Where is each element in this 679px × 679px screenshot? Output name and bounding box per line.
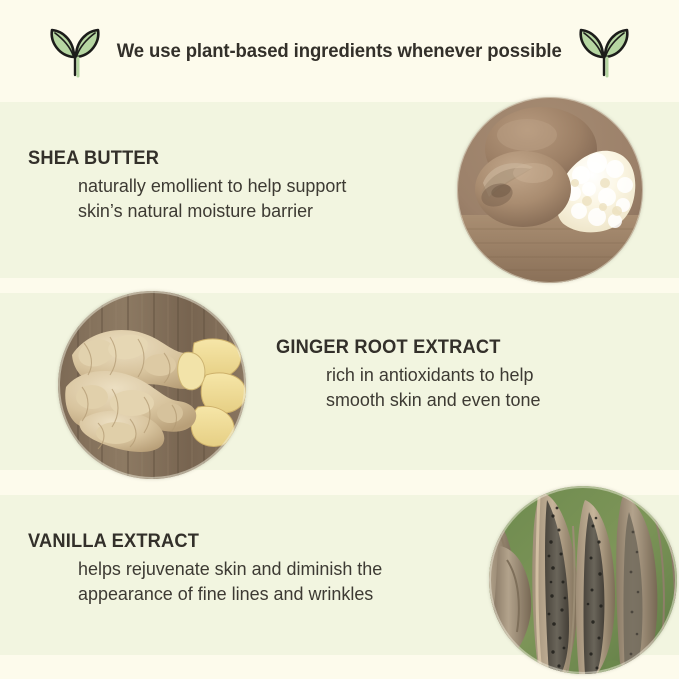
- header: We use plant-based ingredients whenever …: [0, 0, 679, 102]
- ingredient-name: GINGER ROOT EXTRACT: [276, 337, 536, 359]
- ingredient-text-shea-butter: SHEA BUTTER naturally emollient to help …: [28, 148, 355, 223]
- leaf-sprout-icon: [576, 20, 632, 78]
- ingredient-name: VANILLA EXTRACT: [28, 531, 377, 553]
- ingredient-description: helps rejuvenate skin and diminish the a…: [78, 557, 382, 606]
- ingredient-text-ginger-root-extract: GINGER ROOT EXTRACT rich in antioxidants…: [276, 337, 547, 412]
- page-title: We use plant-based ingredients whenever …: [115, 40, 564, 63]
- vanilla-extract-photo: [489, 486, 677, 674]
- ingredient-description: rich in antioxidants to help smooth skin…: [326, 363, 540, 412]
- leaf-sprout-icon: [47, 20, 103, 78]
- ginger-root-photo: [58, 291, 246, 479]
- header-inner: We use plant-based ingredients whenever …: [47, 22, 631, 80]
- ingredient-name: SHEA BUTTER: [28, 148, 342, 170]
- ingredient-text-vanilla-extract: VANILLA EXTRACT helps rejuvenate skin an…: [28, 531, 392, 606]
- ingredients-infographic: We use plant-based ingredients whenever …: [0, 0, 679, 679]
- shea-butter-photo: [457, 97, 643, 283]
- ingredient-description: naturally emollient to help support skin…: [78, 174, 346, 223]
